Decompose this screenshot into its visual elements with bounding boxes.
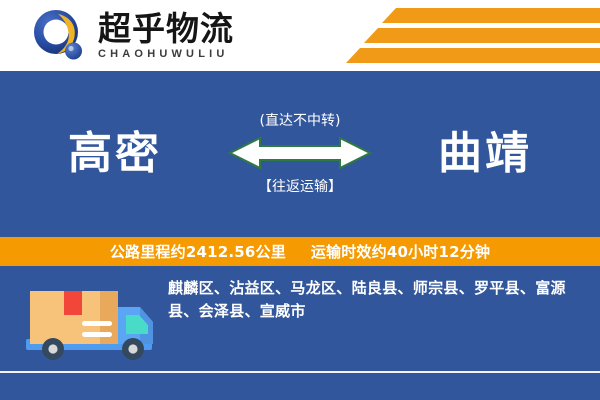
coverage-districts-text: 麒麟区、沾益区、马龙区、陆良县、师宗县、罗平县、富源县、会泽县、宣威市 bbox=[168, 277, 580, 322]
brand-name-cn: 超乎物流 bbox=[98, 12, 234, 47]
route-note-bottom: 【往返运输】 bbox=[258, 180, 342, 194]
brand-logo[interactable]: 超乎物流 CHAOHUWULIU bbox=[30, 8, 234, 64]
header-bar: 超乎物流 CHAOHUWULIU bbox=[0, 0, 600, 71]
brand-text-group: 超乎物流 CHAOHUWULIU bbox=[98, 12, 234, 61]
route-arrow-group: (直达不中转) 【往返运输】 bbox=[215, 114, 385, 194]
origin-city: 高密 bbox=[15, 132, 215, 176]
route-section: 高密 (直达不中转) 【往返运输】 曲靖 bbox=[0, 71, 600, 237]
delivery-truck-icon bbox=[20, 277, 160, 369]
double-headed-arrow-icon bbox=[226, 135, 374, 171]
brand-name-en: CHAOHUWULIU bbox=[98, 48, 234, 60]
destination-city: 曲靖 bbox=[385, 132, 585, 176]
circle-crescent-logo-icon bbox=[30, 8, 90, 64]
route-info-bar: 公路里程约2412.56公里 运输时效约40小时12分钟 bbox=[0, 237, 600, 266]
distance-value: 公路里程约2412.56公里 bbox=[110, 243, 286, 261]
bottom-strip bbox=[0, 373, 600, 400]
route-note-top: (直达不中转) bbox=[260, 114, 341, 128]
route-info-text: 公路里程约2412.56公里 运输时效约40小时12分钟 bbox=[110, 241, 490, 262]
logistics-route-banner: 超乎物流 CHAOHUWULIU 高密 (直达不中转) 【往返运输】 曲靖 bbox=[0, 0, 600, 400]
orange-speed-stripes-icon bbox=[330, 6, 600, 66]
duration-value: 运输时效约40小时12分钟 bbox=[311, 243, 490, 261]
